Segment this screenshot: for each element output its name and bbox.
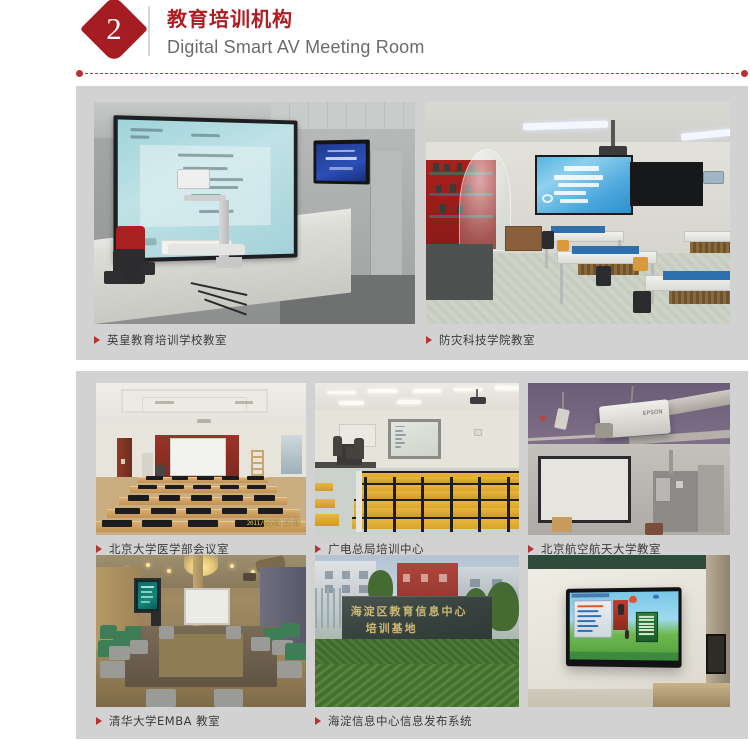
- caption-text: 英皇教育培训学校教室: [107, 332, 227, 348]
- page-root: 2 教育培训机构 Digital Smart AV Meeting Room: [0, 0, 750, 746]
- caption-text: 广电总局培训中心: [328, 541, 424, 557]
- page-title-en: Digital Smart AV Meeting Room: [167, 34, 425, 60]
- rule-dashes: [80, 73, 744, 74]
- photo-ceiling-projector-epson[interactable]: EPSON: [528, 383, 730, 535]
- header-dashed-rule: [76, 70, 748, 77]
- header-divider: [148, 6, 150, 56]
- flat-panel-display: [566, 588, 682, 669]
- caption-marker-icon: [315, 545, 321, 553]
- page-header: 2 教育培训机构 Digital Smart AV Meeting Room: [0, 0, 750, 78]
- photo-classroom-document-camera[interactable]: [94, 102, 415, 324]
- caption-conference-room-u-table: 清华大学EMBA 教室: [96, 713, 220, 729]
- projection-screen: [388, 419, 441, 459]
- caption-text: 清华大学EMBA 教室: [109, 713, 220, 729]
- monument-stone: 海淀区教育信息中心 培训基地: [342, 596, 493, 645]
- caption-marker-icon: [315, 717, 321, 725]
- caption-marker-icon: [94, 336, 100, 344]
- monument-sign-line-1: 海淀区教育信息中心: [351, 603, 454, 619]
- photo-wall-mounted-display[interactable]: [528, 555, 730, 707]
- photo-lab-classroom-projection[interactable]: [426, 102, 730, 324]
- photo-stone-monument-sign[interactable]: 海淀区教育信息中心 培训基地: [315, 555, 519, 707]
- caption-marker-icon: [96, 717, 102, 725]
- projector-brand-label: EPSON: [642, 408, 662, 416]
- caption-ceiling-projector-epson: 北京航空航天大学教室: [528, 541, 661, 557]
- section-number-label: 2: [90, 5, 138, 53]
- monument-sign-line-2: 培训基地: [366, 620, 441, 635]
- header-text-group: 教育培训机构 Digital Smart AV Meeting Room: [167, 6, 425, 60]
- projection-screen: [184, 588, 230, 624]
- caption-text: 海淀信息中心信息发布系统: [328, 713, 472, 729]
- caption-text: 北京大学医学部会议室: [109, 541, 229, 557]
- photo-timestamp: 2011/02/09 12:05: [247, 520, 300, 527]
- caption-marker-icon: [426, 336, 432, 344]
- gallery-panel-row-2: 2011/02/09 12:05: [76, 371, 748, 739]
- photo-conference-room-u-table[interactable]: [96, 555, 306, 707]
- caption-lecture-hall-yellow-seats: 广电总局培训中心: [315, 541, 424, 557]
- projection-screen: [538, 456, 631, 523]
- caption-marker-icon: [528, 545, 534, 553]
- page-title-cn: 教育培训机构: [167, 6, 425, 32]
- caption-classroom-document-camera: 英皇教育培训学校教室: [94, 332, 227, 348]
- projection-screen: [535, 155, 632, 215]
- caption-marker-icon: [96, 545, 102, 553]
- caption-lab-classroom-projection: 防灾科技学院教室: [426, 332, 535, 348]
- caption-auditorium-tiered-desks: 北京大学医学部会议室: [96, 541, 229, 557]
- photo-auditorium-tiered-desks[interactable]: 2011/02/09 12:05: [96, 383, 306, 535]
- caption-text: 防灾科技学院教室: [439, 332, 535, 348]
- caption-stone-monument-sign: 海淀信息中心信息发布系统: [315, 713, 472, 729]
- rule-dot-right: [741, 70, 748, 77]
- gallery-panel-row-1: 英皇教育培训学校教室 防灾科技学院教室: [76, 86, 748, 360]
- photo-lecture-hall-yellow-seats[interactable]: [315, 383, 519, 535]
- caption-text: 北京航空航天大学教室: [541, 541, 661, 557]
- wall-monitor: [314, 139, 370, 184]
- wall-display: [134, 578, 161, 613]
